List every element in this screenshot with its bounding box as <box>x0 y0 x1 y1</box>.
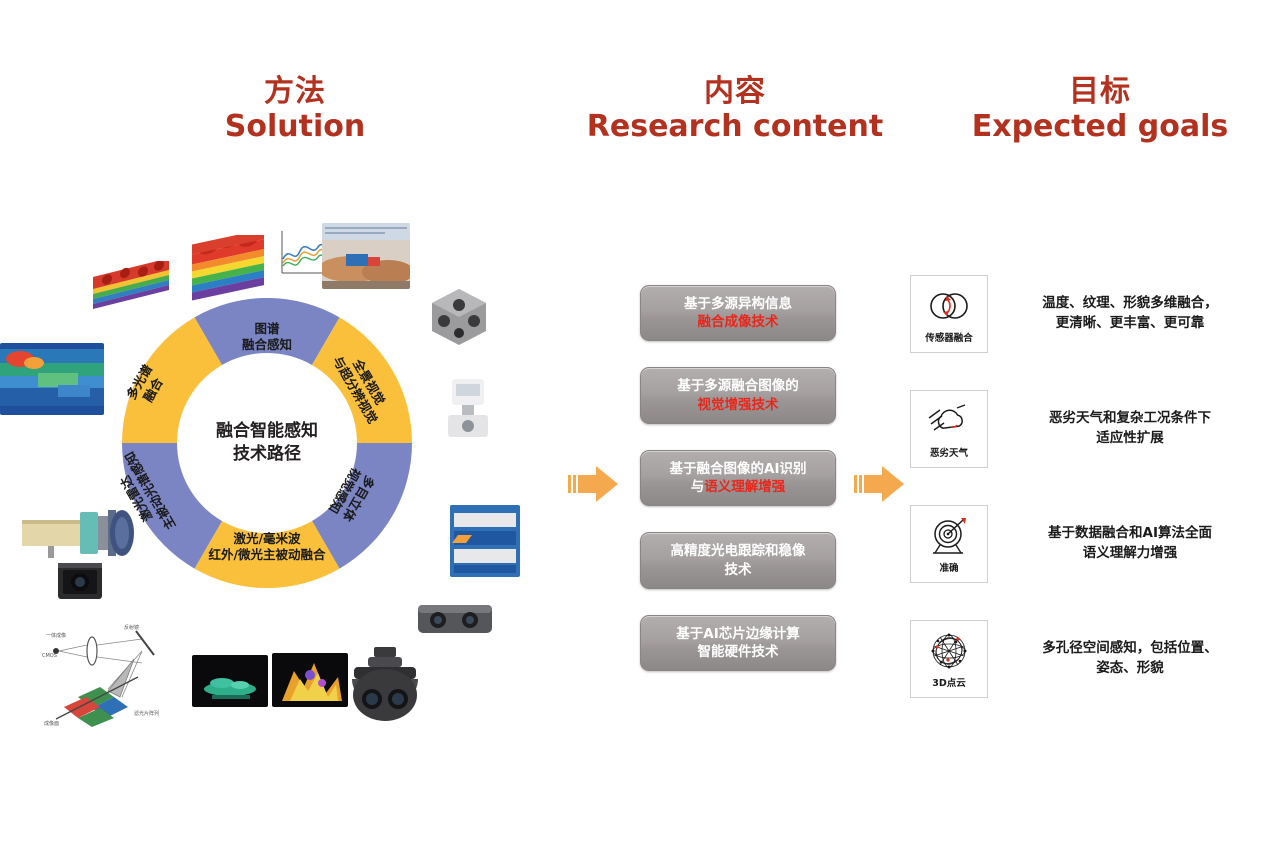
bad-weather-icon <box>927 399 971 443</box>
content-box-line2-mixed: 与语义理解增强 <box>691 478 786 496</box>
content-box-line1: 基于多源融合图像的 <box>677 377 799 395</box>
thumbnail-optical-path-diagram: 一体成像 反射镜 CMOS 滤光片阵列 成像面 <box>38 615 182 727</box>
goal-text-line2: 适应性扩展 <box>1016 429 1244 449</box>
research-content-list: 基于多源异构信息 融合成像技术 基于多源融合图像的 视觉增强技术 基于融合图像的… <box>640 285 836 697</box>
column-header-research-content: 内容 Research content <box>560 74 910 145</box>
goal-text-line2: 姿态、形貌 <box>1016 659 1244 679</box>
goal-text-line1: 温度、纹理、形貌多维融合， <box>1016 294 1244 314</box>
column-header-solution-en: Solution <box>150 109 440 144</box>
column-header-expected-goals: 目标 Expected goals <box>950 74 1250 145</box>
arrow-solution-to-content <box>566 456 622 512</box>
goal-text-line1: 多孔径空间感知，包括位置、 <box>1016 639 1244 659</box>
column-header-solution: 方法 Solution <box>150 74 440 145</box>
solution-wheel-area: 一体成像 反射镜 CMOS 滤光片阵列 成像面 <box>0 215 520 735</box>
content-box-line2-highlight: 语义理解增强 <box>704 479 785 495</box>
goal-icon-caption: 传感器融合 <box>925 330 973 344</box>
donut-segment-jiguang[interactable] <box>195 521 340 588</box>
column-header-goals-zh: 目标 <box>950 74 1250 109</box>
thumbnail-gimbal-eo-turret <box>340 645 430 731</box>
svg-text:滤光片阵列: 滤光片阵列 <box>134 710 159 717</box>
goal-icon-caption: 恶劣天气 <box>930 445 968 459</box>
column-header-goals-en: Expected goals <box>950 109 1250 144</box>
goal-description-bad-weather: 恶劣天气和复杂工况条件下 适应性扩展 <box>1016 409 1244 448</box>
goal-description-sensor-fusion: 温度、纹理、形貌多维融合， 更清晰、更丰富、更可靠 <box>1016 294 1244 333</box>
thumbnail-industrial-scene <box>450 505 520 577</box>
content-box-tracking-stabilization[interactable]: 高精度光电跟踪和稳像 技术 <box>640 532 836 588</box>
content-box-line2-white: 与 <box>691 479 705 495</box>
goal-icon-card-bad-weather[interactable]: 恶劣天气 <box>910 390 988 468</box>
thumbnail-thermal-terrain <box>272 653 348 707</box>
content-box-line1: 基于AI芯片边缘计算 <box>676 625 799 643</box>
goal-icon-caption: 3D点云 <box>932 675 966 689</box>
goal-icon-card-accuracy[interactable]: 准确 <box>910 505 988 583</box>
column-header-content-en: Research content <box>560 109 910 144</box>
content-box-line2-highlight: 视觉增强技术 <box>698 396 779 414</box>
goal-row-point-cloud: 3D点云 多孔径空间感知，包括位置、 姿态、形貌 <box>910 613 1244 705</box>
content-box-line1: 高精度光电跟踪和稳像 <box>671 542 806 560</box>
goal-icon-card-point-cloud[interactable]: 3D点云 <box>910 620 988 698</box>
technology-roadmap-donut: 图谱 融合感知 全景视觉 与超分辨视觉 多目立体 视觉感知 激光/毫米波 红外/… <box>122 298 412 588</box>
point-cloud-icon <box>928 629 970 673</box>
column-header-solution-zh: 方法 <box>150 74 440 109</box>
content-box-line2-highlight: 融合成像技术 <box>698 313 779 331</box>
svg-text:一体成像: 一体成像 <box>46 632 66 639</box>
donut-segment-tupu[interactable] <box>195 298 340 365</box>
svg-text:CMOS: CMOS <box>42 653 57 659</box>
goal-icon-caption: 准确 <box>939 560 958 574</box>
goal-text-line2: 更清晰、更丰富、更可靠 <box>1016 314 1244 334</box>
svg-text:反射镜: 反射镜 <box>124 624 139 631</box>
content-box-line2: 智能硬件技术 <box>698 643 779 661</box>
goal-row-sensor-fusion: 传感器融合 温度、纹理、形貌多维融合， 更清晰、更丰富、更可靠 <box>910 268 1244 360</box>
thumbnail-thermal-image <box>0 343 104 415</box>
thumbnail-lidar-point-cloud-dark <box>192 655 268 707</box>
content-box-ai-recognition[interactable]: 基于融合图像的AI识别 与语义理解增强 <box>640 450 836 506</box>
goal-text-line1: 基于数据融合和AI算法全面 <box>1016 524 1244 544</box>
donut-center-label: 融合智能感知 技术路径 <box>182 420 352 466</box>
goal-text-line2: 语义理解力增强 <box>1016 544 1244 564</box>
goal-description-point-cloud: 多孔径空间感知，包括位置、 姿态、形貌 <box>1016 639 1244 678</box>
target-accuracy-icon <box>928 514 970 558</box>
arrow-content-to-goals <box>852 456 908 512</box>
thumbnail-laser-rangefinder <box>412 593 498 645</box>
content-box-line2: 技术 <box>725 561 752 579</box>
thumbnail-inspection-instrument <box>442 375 494 443</box>
column-header-content-zh: 内容 <box>560 74 910 109</box>
sensor-fusion-icon <box>926 284 972 328</box>
content-box-line1: 基于融合图像的AI识别 <box>670 460 807 478</box>
thumbnail-multi-aperture-camera <box>424 283 494 351</box>
thumbnail-pipeline-inspection-photo <box>322 223 410 289</box>
goal-icon-card-sensor-fusion[interactable]: 传感器融合 <box>910 275 988 353</box>
expected-goals-list: 传感器融合 温度、纹理、形貌多维融合， 更清晰、更丰富、更可靠 恶劣天气 恶劣天… <box>910 268 1244 728</box>
content-box-fusion-imaging[interactable]: 基于多源异构信息 融合成像技术 <box>640 285 836 341</box>
thumbnail-hyperspectral-cube <box>180 235 280 307</box>
goal-row-accuracy: 准确 基于数据融合和AI算法全面 语义理解力增强 <box>910 498 1244 590</box>
content-box-visual-enhancement[interactable]: 基于多源融合图像的 视觉增强技术 <box>640 367 836 423</box>
svg-text:成像面: 成像面 <box>44 720 59 727</box>
content-box-edge-computing[interactable]: 基于AI芯片边缘计算 智能硬件技术 <box>640 615 836 671</box>
content-box-line1: 基于多源异构信息 <box>684 295 792 313</box>
goal-text-line1: 恶劣天气和复杂工况条件下 <box>1016 409 1244 429</box>
goal-description-accuracy: 基于数据融合和AI算法全面 语义理解力增强 <box>1016 524 1244 563</box>
goal-row-bad-weather: 恶劣天气 恶劣天气和复杂工况条件下 适应性扩展 <box>910 383 1244 475</box>
